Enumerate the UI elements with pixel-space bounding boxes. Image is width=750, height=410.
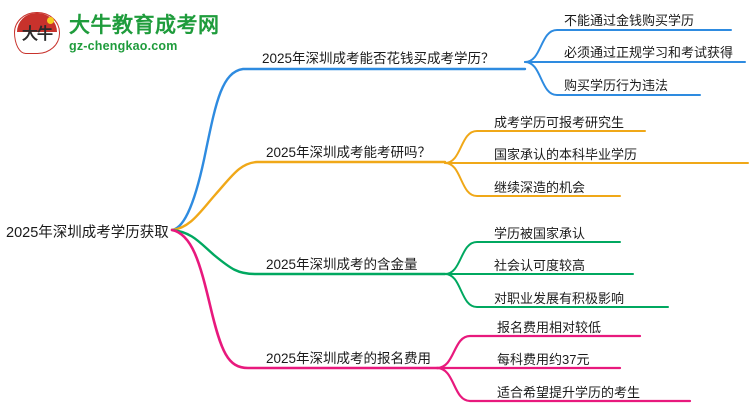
mindmap-branch-2-child-2-label[interactable]: 国家承认的本科毕业学历 <box>494 144 637 163</box>
mindmap-branch-1-label[interactable]: 2025年深圳成考能否花钱买成考学历？ <box>262 47 495 67</box>
mindmap-branch-2-label[interactable]: 2025年深圳成考能考研吗？ <box>266 141 431 161</box>
mindmap-branch-1-child-2-label[interactable]: 必须通过正规学习和考试获得 <box>564 42 733 61</box>
mindmap-branch-3-child-3-label[interactable]: 对职业发展有积极影响 <box>494 288 624 307</box>
mindmap-branch-3-label[interactable]: 2025年深圳成考的含金量 <box>266 253 418 273</box>
mindmap-branch-3-child-1-label[interactable]: 学历被国家承认 <box>494 223 585 242</box>
connector-branch-2 <box>172 162 445 230</box>
mindmap-canvas: 大牛 大牛教育成考网 gz-chengkao.com 2025年深圳成考学历获取 <box>0 0 750 410</box>
mindmap-branch-3-child-2-label[interactable]: 社会认可度较高 <box>494 255 585 274</box>
mindmap-branch-4-child-1-label[interactable]: 报名费用相对较低 <box>497 317 601 336</box>
mindmap-branch-2-child-1-label[interactable]: 成考学历可报考研究生 <box>494 112 624 131</box>
mindmap-root-node[interactable]: 2025年深圳成考学历获取 <box>6 221 169 242</box>
mindmap-branch-4-label[interactable]: 2025年深圳成考的报名费用 <box>266 347 431 367</box>
mindmap-branch-1-child-1-label[interactable]: 不能通过金钱购买学历 <box>564 10 694 29</box>
mindmap-branch-4-child-3-label[interactable]: 适合希望提升学历的考生 <box>497 382 640 401</box>
mindmap-branch-2-child-3-label[interactable]: 继续深造的机会 <box>494 177 585 196</box>
mindmap-branch-1-child-3-label[interactable]: 购买学历行为违法 <box>564 75 668 94</box>
mindmap-branch-4-child-2-label[interactable]: 每科费用约37元 <box>497 349 589 368</box>
